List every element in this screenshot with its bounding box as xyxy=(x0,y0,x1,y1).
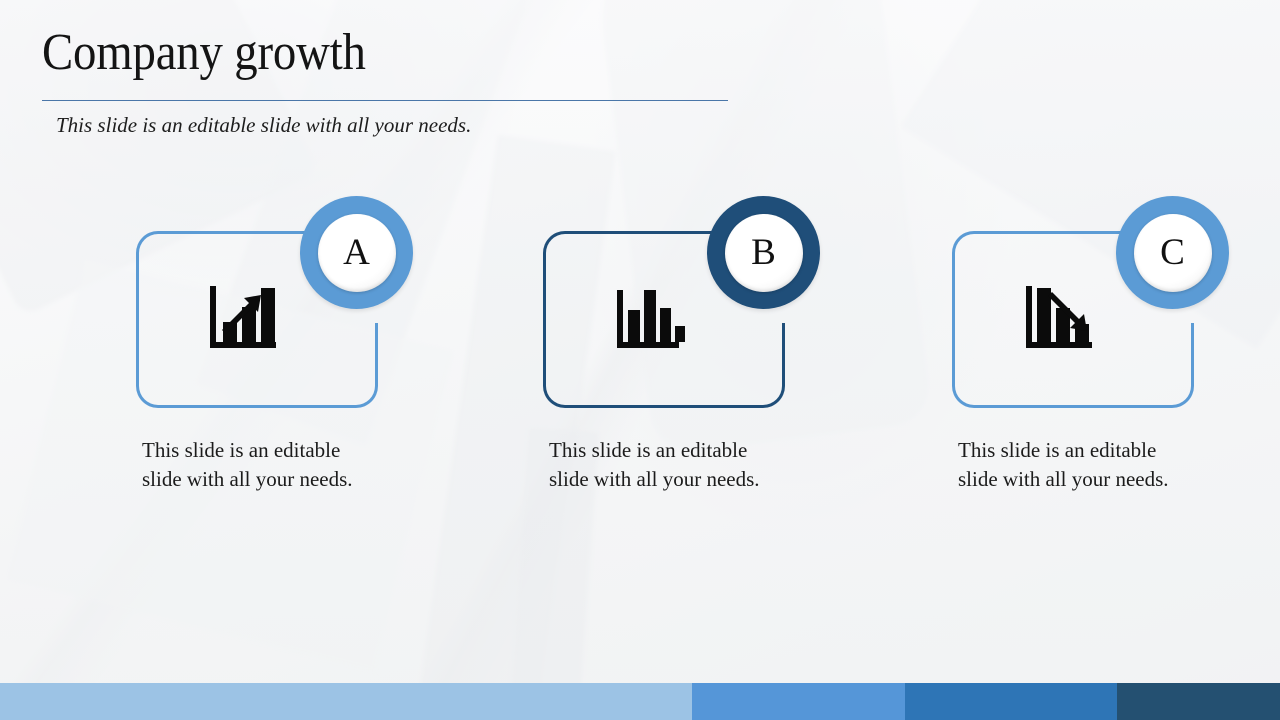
card-badge-a[interactable]: A xyxy=(300,196,413,309)
page-subtitle: This slide is an editable slide with all… xyxy=(56,110,471,140)
footer-segment-3 xyxy=(905,683,1117,720)
card-body-text: This slide is an editable slide with all… xyxy=(958,436,1194,493)
card-corner-bottom-right xyxy=(741,364,785,408)
badge-inner-circle: A xyxy=(318,214,396,292)
card-outline-top-edge xyxy=(974,231,1134,234)
card-corner-bottom-right xyxy=(334,364,378,408)
card-corner-top-left xyxy=(136,231,180,275)
slide-canvas: Company growth This slide is an editable… xyxy=(0,0,1280,720)
card-corner-bottom-left xyxy=(136,364,180,408)
card-outline-bottom-edge xyxy=(974,405,1172,408)
badge-inner-circle: C xyxy=(1134,214,1212,292)
card-body-text: This slide is an editable slide with all… xyxy=(142,436,378,493)
card-a[interactable]: A This slide is an editable slide with a… xyxy=(122,196,422,536)
card-corner-top-left xyxy=(543,231,587,275)
card-corner-bottom-right xyxy=(1150,364,1194,408)
footer-segment-4 xyxy=(1117,683,1280,720)
page-title: Company growth xyxy=(42,22,672,84)
card-badge-c[interactable]: C xyxy=(1116,196,1229,309)
card-outline-top-edge xyxy=(158,231,318,234)
header: Company growth This slide is an editable… xyxy=(42,22,742,84)
card-outline-bottom-edge xyxy=(158,405,356,408)
footer-segment-2 xyxy=(692,683,905,720)
bar-chart-columns-icon xyxy=(615,284,687,356)
bar-chart-decline-down-icon xyxy=(1024,284,1096,356)
card-row: A This slide is an editable slide with a… xyxy=(0,196,1280,536)
card-b[interactable]: B This slide is an editable slide with a… xyxy=(529,196,829,536)
card-body-text: This slide is an editable slide with all… xyxy=(549,436,785,493)
card-corner-bottom-left xyxy=(952,364,996,408)
card-c[interactable]: C This slide is an editable slide with a… xyxy=(938,196,1238,536)
badge-letter: B xyxy=(751,234,776,271)
badge-inner-circle: B xyxy=(725,214,803,292)
card-badge-b[interactable]: B xyxy=(707,196,820,309)
badge-letter: C xyxy=(1160,234,1185,271)
title-divider xyxy=(42,100,728,101)
bar-chart-growth-up-icon xyxy=(208,284,280,356)
card-outline-top-edge xyxy=(565,231,725,234)
card-corner-top-left xyxy=(952,231,996,275)
footer-bar xyxy=(0,683,1280,720)
footer-segment-1 xyxy=(0,683,692,720)
card-corner-bottom-left xyxy=(543,364,587,408)
card-outline-bottom-edge xyxy=(565,405,763,408)
badge-letter: A xyxy=(343,234,370,271)
